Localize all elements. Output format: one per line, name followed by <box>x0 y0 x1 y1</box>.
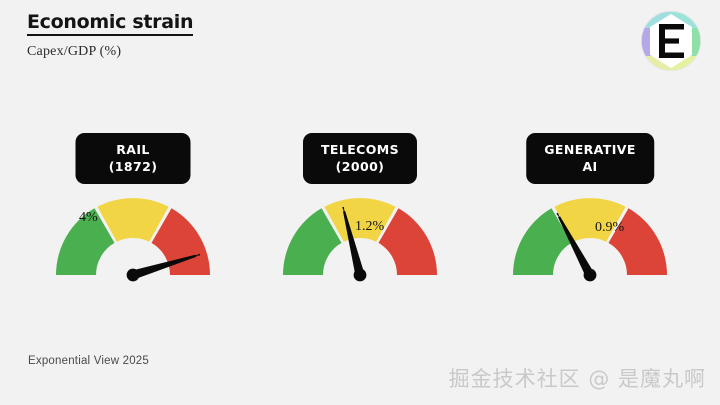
gauge-telecoms: TELECOMS (2000) 1.2% <box>245 133 475 308</box>
gauge-value-generative-ai: 0.9% <box>595 220 624 236</box>
gauge-value-rail: 4% <box>79 210 98 226</box>
gauge-label-generative-ai: GENERATIVE AI <box>526 133 654 184</box>
source-credit: Exponential View 2025 <box>28 355 149 367</box>
gauge-dial-rail: 4% <box>50 192 216 282</box>
page-title: Economic strain <box>27 12 193 36</box>
page-subtitle: Capex/GDP (%) <box>27 44 193 60</box>
header: Economic strain Capex/GDP (%) <box>27 12 193 60</box>
gauge-dial-telecoms: 1.2% <box>277 192 443 282</box>
gauge-generative-ai: GENERATIVE AI 0.9% <box>475 133 705 308</box>
gauge-label-telecoms: TELECOMS (2000) <box>303 133 417 184</box>
watermark: 掘金技术社区 @ 是魔丸啊 <box>449 363 706 393</box>
gauge-label-rail: RAIL (1872) <box>76 133 191 184</box>
gauge-rail: RAIL (1872) 4% <box>18 133 248 308</box>
brand-logo <box>640 10 702 72</box>
gauge-row: RAIL (1872) 4% <box>0 133 720 308</box>
gauge-value-telecoms: 1.2% <box>355 219 384 235</box>
gauge-dial-generative-ai: 0.9% <box>507 192 673 282</box>
slide-root: Economic strain Capex/GDP (%) <box>0 0 720 405</box>
